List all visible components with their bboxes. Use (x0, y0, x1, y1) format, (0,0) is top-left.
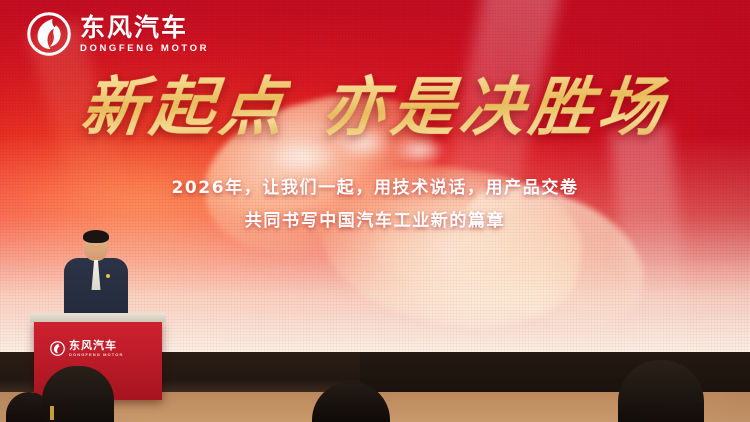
speaker-figure (62, 232, 130, 324)
speaker-hair (83, 230, 109, 243)
dongfeng-swallow-emblem-icon (27, 12, 71, 56)
dongfeng-logo: 东风汽车 DONGFENG MOTOR (27, 12, 209, 56)
podium-chinese-name: 东风汽车 (69, 340, 123, 351)
slide-subtitle: 2026年，让我们一起，用技术说话，用产品交卷 共同书写中国汽车工业新的篇章 (0, 173, 750, 231)
logo-wordmark: 东风汽车 DONGFENG MOTOR (80, 15, 209, 54)
audience-collar-accent (50, 406, 54, 420)
logo-chinese-name: 东风汽车 (80, 15, 209, 40)
speaker-lapel-pin (106, 274, 110, 278)
podium-english-name: DONGFENG MOTOR (69, 353, 123, 357)
audience-silhouette (42, 366, 114, 422)
dongfeng-swallow-emblem-icon (50, 341, 65, 356)
podium-logo: 东风汽车 DONGFENG MOTOR (50, 340, 123, 357)
logo-english-name: DONGFENG MOTOR (80, 44, 209, 54)
podium-wordmark: 东风汽车 DONGFENG MOTOR (69, 340, 123, 357)
subtitle-line-1: 2026年，让我们一起，用技术说话，用产品交卷 (171, 173, 578, 198)
presentation-photo: 东风汽车 DONGFENG MOTOR 新起点 亦是决胜场 2026年，让我们一… (0, 0, 750, 422)
subtitle-line-2: 共同书写中国汽车工业新的篇章 (245, 206, 505, 231)
podium-desktop (30, 313, 166, 322)
